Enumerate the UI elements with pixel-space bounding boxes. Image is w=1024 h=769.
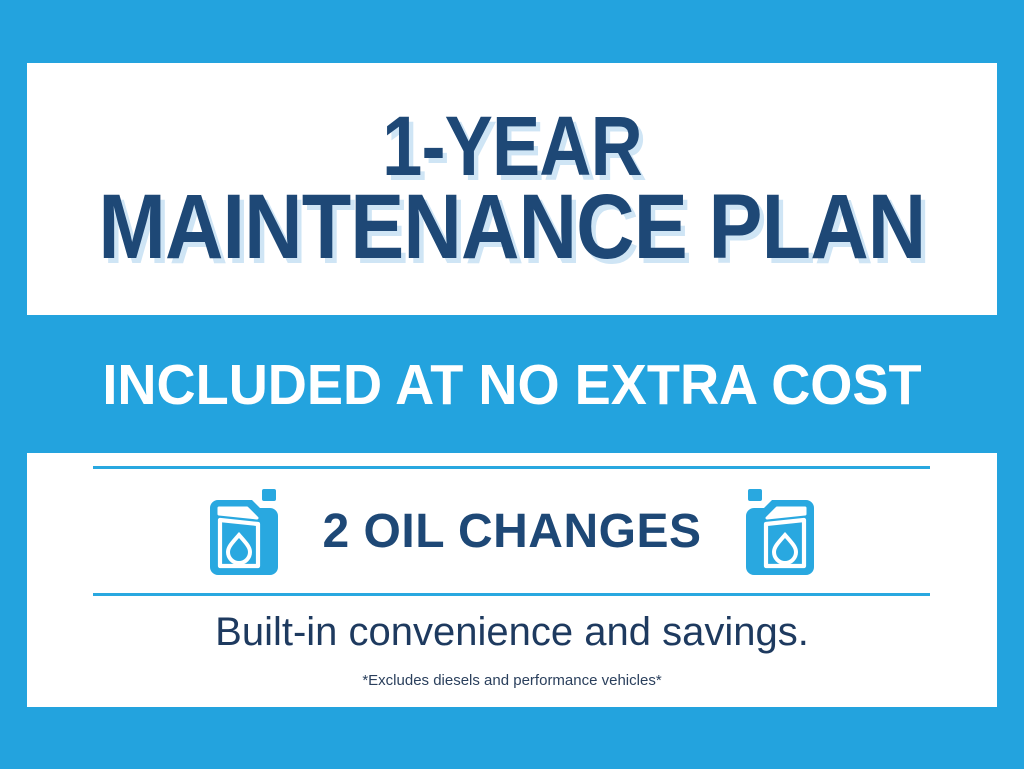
divider-bottom: [93, 593, 930, 596]
offer-row: 2 OIL CHANGES: [27, 472, 997, 590]
offer-title: 2 OIL CHANGES: [322, 504, 701, 559]
divider-top: [93, 466, 930, 469]
oil-jug-icon: [206, 487, 280, 575]
tagline: Built-in convenience and savings.: [27, 604, 997, 660]
promo-poster: 1-YEAR MAINTENANCE PLAN INCLUDED AT NO E…: [0, 0, 1024, 769]
oil-jug-icon: [744, 487, 818, 575]
fine-print: *Excludes diesels and performance vehicl…: [27, 668, 997, 692]
page-title: 1-YEAR MAINTENANCE PLAN: [27, 63, 997, 315]
headline-line-2: MAINTENANCE PLAN: [98, 185, 925, 271]
subtitle: INCLUDED AT NO EXTRA COST: [26, 330, 999, 440]
headline-line-1: 1-YEAR: [382, 107, 642, 185]
